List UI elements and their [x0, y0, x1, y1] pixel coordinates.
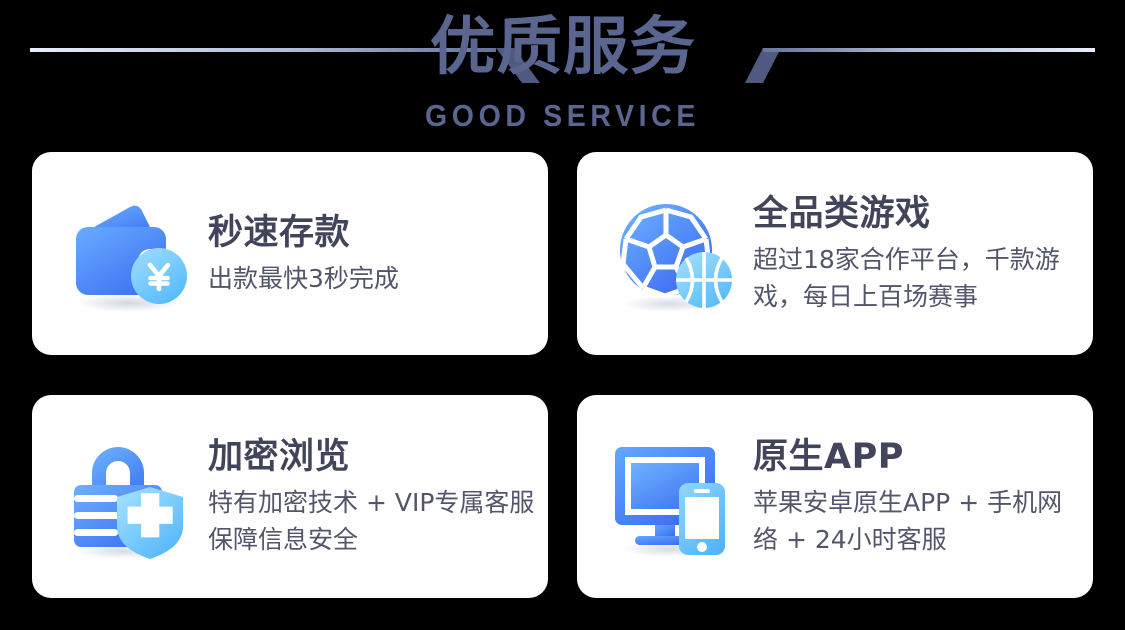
feature-card-grid: 秒速存款 出款最快3秒完成 [32, 152, 1093, 598]
card-description: 出款最快3秒完成 [208, 260, 538, 297]
card-text: 原生APP 苹果安卓原生APP + 手机网络 + 24小时客服 [753, 435, 1093, 558]
feature-card-deposit[interactable]: 秒速存款 出款最快3秒完成 [32, 152, 548, 355]
card-text: 全品类游戏 超过18家合作平台，千款游戏，每日上百场赛事 [753, 192, 1093, 315]
monitor-phone-icon [607, 431, 739, 563]
card-title: 加密浏览 [208, 435, 538, 480]
wallet-icon [62, 188, 194, 320]
card-text: 加密浏览 特有加密技术 + VIP专属客服保障信息安全 [208, 435, 548, 558]
page-title: 优质服务 [429, 8, 695, 86]
header-title-wrap: 优质服务 [0, 8, 1125, 86]
page-header: 优质服务 GOOD SERVICE [0, 0, 1125, 146]
lock-shield-icon [62, 431, 194, 563]
card-title: 秒速存款 [208, 211, 538, 256]
card-title: 原生APP [753, 435, 1083, 480]
card-description: 苹果安卓原生APP + 手机网络 + 24小时客服 [753, 484, 1083, 558]
card-title: 全品类游戏 [753, 192, 1083, 237]
feature-card-games[interactable]: 全品类游戏 超过18家合作平台，千款游戏，每日上百场赛事 [577, 152, 1093, 355]
feature-card-native-app[interactable]: 原生APP 苹果安卓原生APP + 手机网络 + 24小时客服 [577, 395, 1093, 598]
soccer-basketball-icon [607, 188, 739, 320]
page-subtitle: GOOD SERVICE [45, 99, 1080, 133]
feature-card-encryption[interactable]: 加密浏览 特有加密技术 + VIP专属客服保障信息安全 [32, 395, 548, 598]
card-description: 超过18家合作平台，千款游戏，每日上百场赛事 [753, 241, 1083, 315]
card-description: 特有加密技术 + VIP专属客服保障信息安全 [208, 484, 538, 558]
card-text: 秒速存款 出款最快3秒完成 [208, 211, 548, 297]
